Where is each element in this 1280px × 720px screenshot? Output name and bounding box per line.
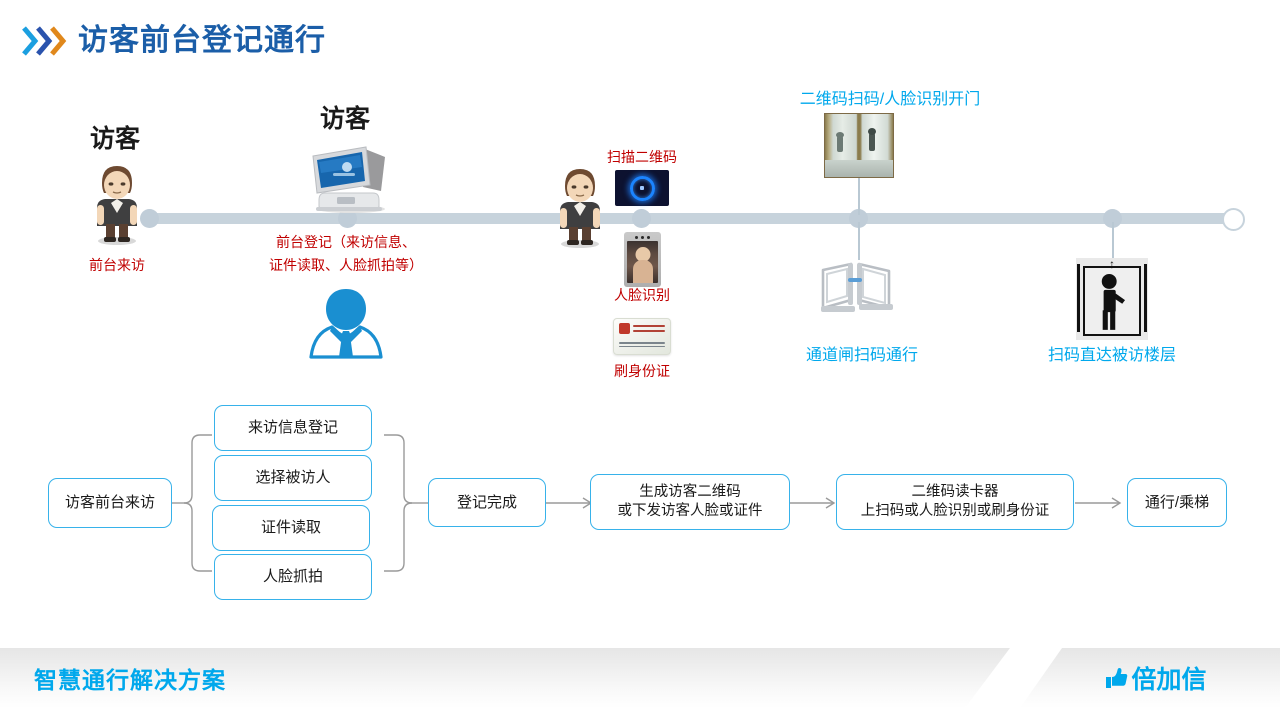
stage-3-caption-scan: 扫描二维码 [600,148,684,167]
id-card-subtitle-line [633,330,665,332]
door-figure-2-head [868,128,876,135]
face-terminal-sensors [627,235,658,240]
brand-name: 倍加信 [1131,660,1206,696]
timeline-node-3 [632,209,651,228]
brand-lockup: 倍加信 [1103,660,1206,696]
door-figure-2 [869,133,875,151]
qr-scanner-ring [630,176,655,201]
stage-3-caption-id: 刷身份证 [600,362,684,381]
face-recognition-terminal-icon [624,232,661,287]
door-figure-1 [837,136,843,152]
flow-branch-box-4[interactable]: 人脸抓拍 [214,554,372,600]
stage-4-caption-top: 二维码扫码/人脸识别开门 [760,89,1020,111]
flow-branch-box-1[interactable]: 来访信息登记 [214,405,372,451]
receptionist-icon [307,287,385,359]
elevator-rail-left [1077,264,1080,332]
stage-2-heading: 访客 [309,103,381,137]
flow-step-box-1[interactable]: 登记完成 [428,478,546,527]
timeline-stem-down-5 [1112,222,1114,260]
qr-scanner-icon [615,170,669,206]
flow-start-box[interactable]: 访客前台来访 [48,478,172,528]
id-card-title-line [633,325,665,327]
flow-step-box-2-line2: 或下发访客人脸或证件 [618,502,763,521]
elevator-person-icon [1085,268,1139,334]
flow-step-box-3-line2: 上扫码或人脸识别或刷身份证 [861,502,1050,521]
stage-4-caption-bottom: 通道闸扫码通行 [772,345,952,367]
door-figure-1-head [836,132,844,138]
stage-1-heading: 访客 [79,123,151,157]
slide-root: 访客前台登记通行 访客 [0,0,1280,720]
flow-branch-box-2[interactable]: 选择被访人 [214,455,372,501]
elevator-cabin: ↑ [1083,266,1141,336]
footer-tagline: 智慧通行解决方案 [34,661,226,695]
glass-door-icon [824,113,894,178]
id-card-icon [613,318,671,355]
process-timeline: 访客 前台来访 访客 [0,0,1280,400]
stage-1-caption: 前台来访 [80,256,154,275]
door-floor [825,160,893,177]
visitor-person-icon-2 [552,158,608,248]
self-service-kiosk-icon [303,143,395,213]
flow-step-box-2-line1: 生成访客二维码 [639,483,741,502]
flow-step-box-2[interactable]: 生成访客二维码 或下发访客人脸或证件 [590,474,790,530]
flow-step-box-3[interactable]: 二维码读卡器 上扫码或人脸识别或刷身份证 [836,474,1074,530]
thumbs-up-icon [1103,665,1129,691]
elevator-rail-right [1144,264,1147,332]
footer-brand-banner: 倍加信 [1020,648,1280,708]
timeline-end-marker [1222,208,1245,231]
process-flowchart: 访客前台来访 来访信息登记 选择被访人 证件读取 人脸抓拍 登记完成 生成访客二… [0,395,1280,620]
timeline-stem-down-4 [858,222,860,260]
speed-gate-turnstile-icon [815,258,901,320]
flow-step-box-4[interactable]: 通行/乘梯 [1127,478,1227,527]
slide-footer: 智慧通行解决方案 倍加信 [0,648,1280,720]
elevator-up-arrow-icon: ↑ [1109,258,1115,270]
visitor-person-icon [89,155,145,245]
footer-tagline-banner: 智慧通行解决方案 [0,648,1010,708]
flow-branch-box-3[interactable]: 证件读取 [212,505,370,551]
timeline-stem-up-4 [858,177,860,215]
face-terminal-screen [627,241,658,283]
stage-3-caption-face: 人脸识别 [600,286,684,305]
stage-5-caption: 扫码直达被访楼层 [1022,345,1202,367]
id-card-detail-lines [619,334,665,347]
stage-2-caption-line1: 前台登记（来访信息、 [248,233,444,252]
flow-step-box-3-line1: 二维码读卡器 [912,483,999,502]
timeline-bar [145,213,1230,224]
elevator-icon: ↑ [1076,258,1148,340]
stage-2-caption-line2: 证件读取、人脸抓拍等） [248,256,444,275]
id-card-emblem [619,323,630,334]
